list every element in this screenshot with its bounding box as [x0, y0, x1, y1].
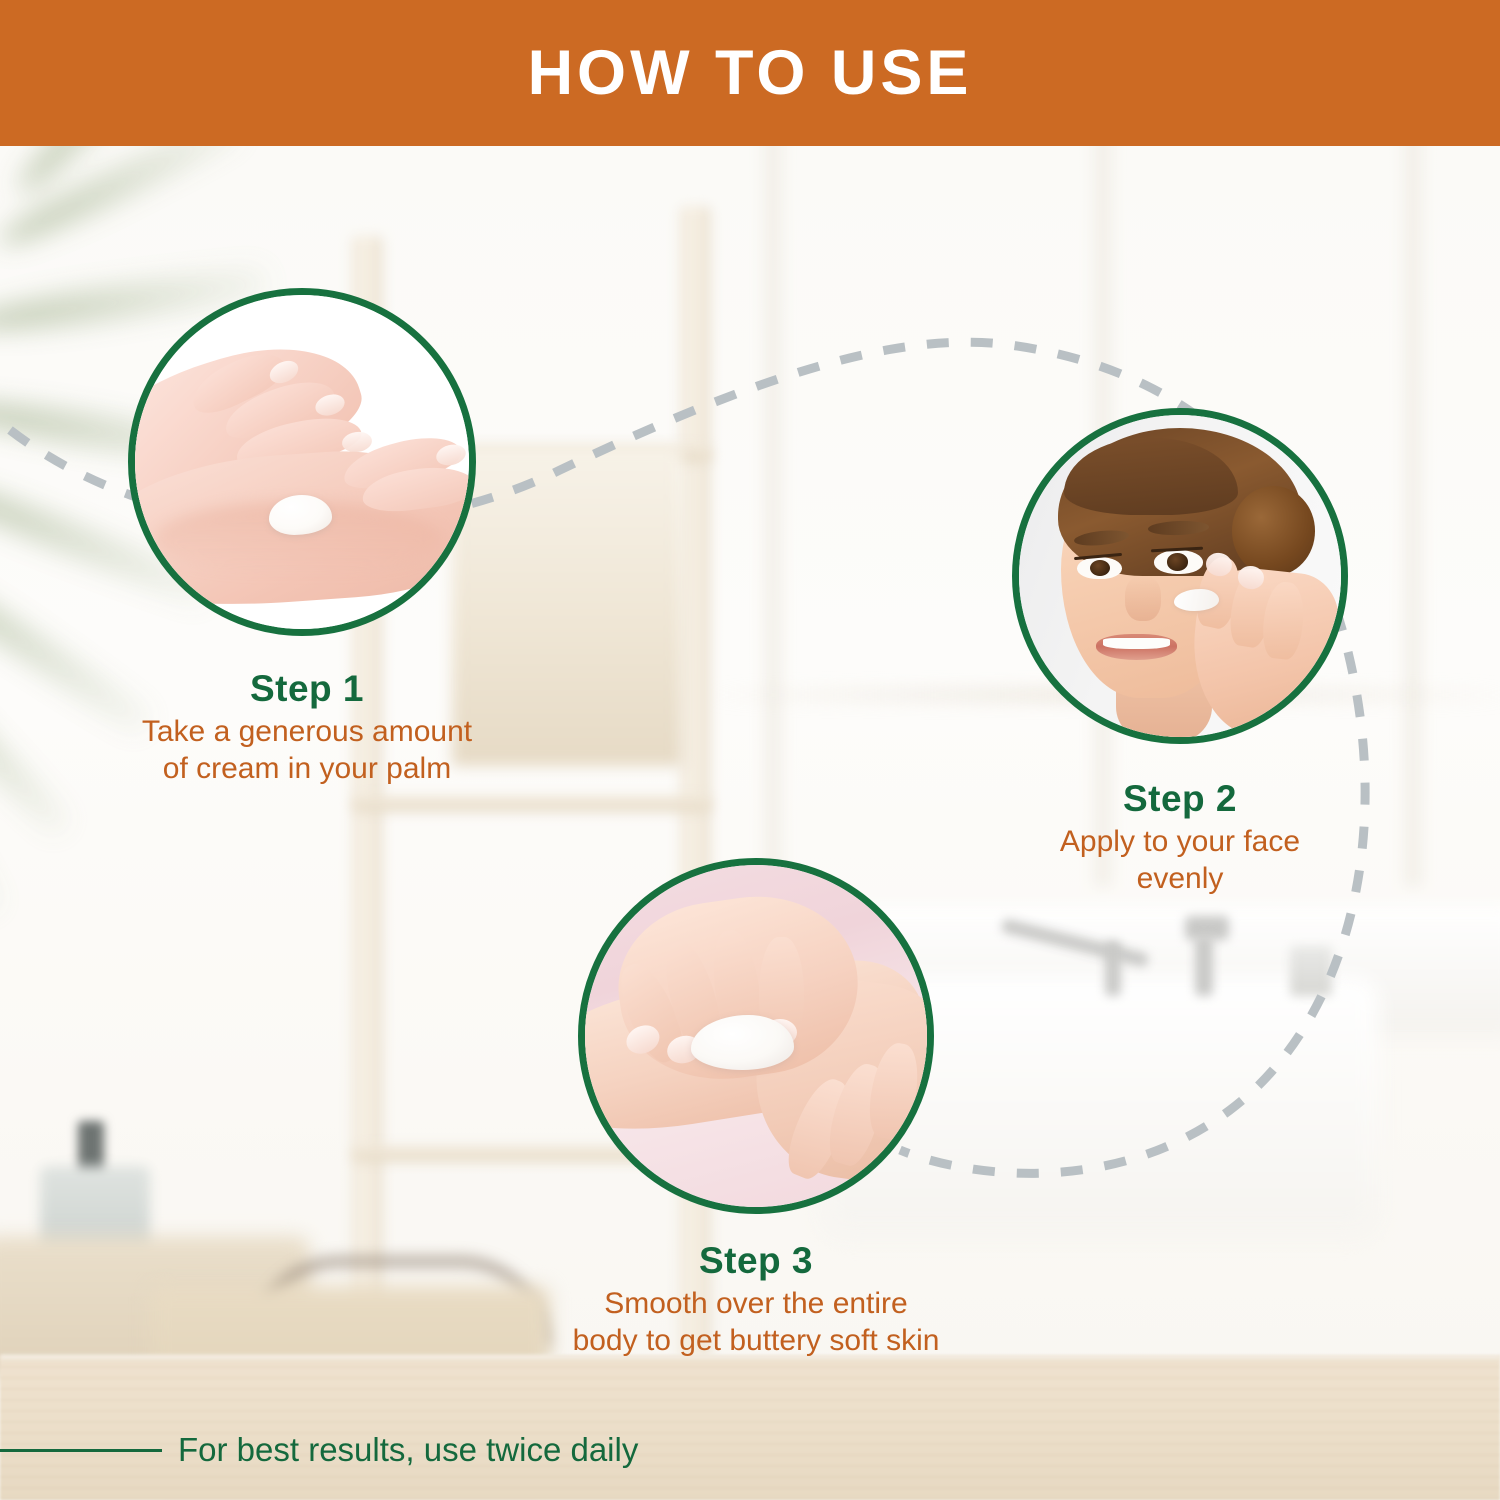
how-to-use-poster: Step 1 Take a generous amount of cream i… — [0, 0, 1500, 1500]
step-1-image-circle — [128, 288, 476, 636]
step-3-image-circle — [578, 858, 934, 1214]
header-bar: HOW TO USE — [0, 0, 1500, 146]
nose — [1125, 576, 1160, 621]
step-2-description: Apply to your face evenly — [955, 824, 1405, 897]
woman-applying-cream-to-face-photo — [1019, 415, 1341, 737]
mouth — [1096, 634, 1177, 660]
step-3-label: Step 3 Smooth over the entire body to ge… — [506, 1240, 1006, 1360]
teeth — [1103, 638, 1171, 649]
page-title: HOW TO USE — [528, 42, 973, 105]
step-1-label: Step 1 Take a generous amount of cream i… — [72, 668, 542, 788]
faucet-stem — [1195, 936, 1213, 996]
iris-left — [1090, 560, 1110, 576]
step-3-title: Step 3 — [506, 1240, 1006, 1281]
counter-bottle — [1290, 946, 1332, 996]
step-1-title: Step 1 — [72, 668, 542, 709]
hair-bun — [1232, 486, 1316, 576]
hands-rubbing-cream-photo — [585, 865, 927, 1207]
footer-text: For best results, use twice daily — [178, 1431, 638, 1469]
hands-holding-cream-photo — [135, 295, 469, 629]
step-2-image-circle — [1012, 408, 1348, 744]
wall-panel-seam — [760, 146, 786, 886]
ladder-rung — [352, 796, 712, 812]
step-3-description: Smooth over the entire body to get butte… — [506, 1286, 1006, 1359]
step-2-title: Step 2 — [955, 778, 1405, 819]
footer-rule-line — [0, 1449, 162, 1452]
iris-right — [1167, 553, 1188, 570]
wall-panel-seam — [1400, 146, 1426, 886]
step-2-label: Step 2 Apply to your face evenly — [955, 778, 1405, 898]
faucet-body — [1105, 941, 1121, 996]
footer-note: For best results, use twice daily — [0, 1420, 1500, 1480]
step-1-description: Take a generous amount of cream in your … — [72, 714, 542, 787]
